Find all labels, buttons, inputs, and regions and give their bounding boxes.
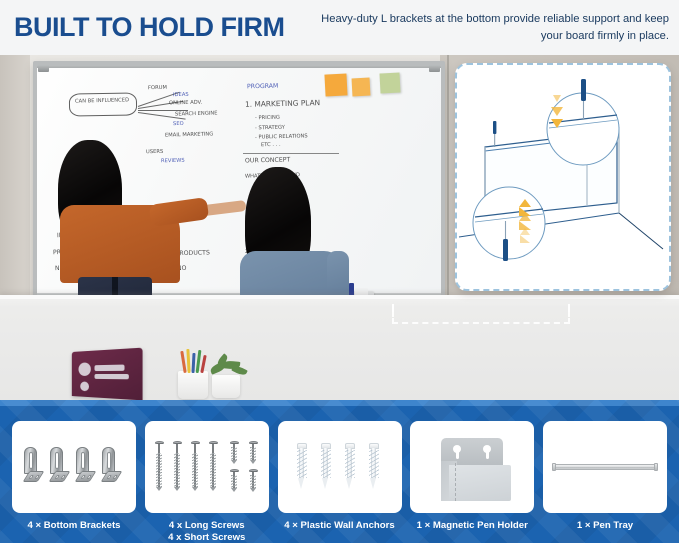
pen-holder-fold-line	[455, 463, 456, 501]
accessory-plastic-wall-anchors[interactable]: 4 × Plastic Wall Anchors	[278, 421, 402, 532]
whiteboard-branch-label-7: REVIEWS	[161, 158, 185, 165]
accessory-card-list: 4 × Bottom Brackets	[0, 406, 679, 543]
accessory-band: 4 × Bottom Brackets	[0, 400, 679, 543]
l-bracket-icon	[102, 447, 119, 483]
accessory-label-long-screws: 4 x Long Screws	[168, 520, 245, 532]
bottom-bracket-callout	[392, 304, 570, 324]
accessory-screws[interactable]: 4 x Long Screws 4 x Short Screws	[145, 421, 269, 543]
whiteboard-branch-label-1: IDEAS	[173, 92, 189, 98]
laptop-sticker	[94, 365, 124, 372]
whiteboard-branch-label-6: USERS	[146, 149, 163, 155]
laptop	[72, 348, 143, 400]
pen-tray-end-cap-right	[654, 463, 658, 471]
whiteboard-underline	[243, 153, 339, 154]
accessory-image-bottom-brackets	[12, 421, 136, 513]
sticky-note	[324, 73, 347, 96]
accessory-pen-tray[interactable]: 1 × Pen Tray	[543, 421, 667, 532]
accessory-image-pen-holder	[410, 421, 534, 513]
whiteboard-bullet-0: - PRICING	[255, 115, 280, 122]
laptop-sticker	[94, 374, 128, 379]
whiteboard-bullet-1: - STRATEGY	[255, 125, 285, 132]
whiteboard-branch-label-2: ONLINE ADV.	[169, 100, 202, 107]
wall-anchor-icon	[344, 443, 356, 491]
accessory-label-short-screws: 4 x Short Screws	[168, 532, 245, 543]
header-banner: BUILT TO HOLD FIRM Heavy-duty L brackets…	[0, 0, 679, 55]
laptop-logo-sticker	[79, 362, 91, 376]
pen-tray-end-cap-left	[552, 463, 556, 471]
whiteboard-corner-bracket-left	[38, 64, 49, 72]
accessory-image-screws	[145, 421, 269, 513]
accessory-magnetic-pen-holder[interactable]: 1 × Magnetic Pen Holder	[410, 421, 534, 532]
keyhole-slot-icon	[483, 445, 491, 459]
whiteboard-bullet-3: ETC . . .	[261, 142, 281, 148]
l-bracket-icon	[24, 447, 41, 483]
whiteboard-branch-label-4: SEO	[173, 121, 184, 127]
product-lifestyle-photo: CAN BE INFLUENCED FORUM IDEAS ONLINE ADV…	[0, 55, 679, 400]
page-title: BUILT TO HOLD FIRM	[14, 14, 284, 41]
whiteboard-corner-bracket-right	[429, 64, 440, 72]
wall-anchor-icon	[320, 443, 332, 491]
header-subtitle: Heavy-duty L brackets at the bottom prov…	[319, 11, 669, 43]
pen-holder-front-panel	[449, 465, 511, 501]
accessory-label-screws: 4 x Long Screws 4 x Short Screws	[168, 520, 245, 543]
whiteboard-section: OUR CONCEPT	[245, 156, 290, 164]
wall-mount-installation-diagram	[455, 63, 671, 291]
accessory-label-bottom-brackets: 4 × Bottom Brackets	[27, 520, 120, 532]
bottom-bracket-callout-tick-left	[392, 304, 394, 312]
keyhole-slot-icon	[453, 445, 461, 459]
bottom-bracket-callout-tick-right	[568, 304, 570, 312]
l-bracket-icon	[50, 447, 67, 483]
laptop-logo-sticker	[80, 382, 89, 392]
table-front-edge	[0, 295, 679, 299]
whiteboard-branch-label-5: EMAIL MARKETING	[165, 131, 213, 138]
whiteboard-top-frame	[33, 61, 445, 68]
accessory-label-pen-holder: 1 × Magnetic Pen Holder	[417, 520, 528, 532]
wall-anchor-icon	[368, 443, 380, 491]
l-bracket-icon	[76, 447, 93, 483]
accessory-image-pen-tray	[543, 421, 667, 513]
plant-pot	[212, 375, 240, 398]
accessory-label-pen-tray: 1 × Pen Tray	[577, 520, 633, 532]
sticky-note	[379, 72, 400, 93]
sticky-note	[352, 78, 371, 97]
accessory-bottom-brackets[interactable]: 4 × Bottom Brackets	[12, 421, 136, 532]
whiteboard-title: 1. MARKETING PLAN	[245, 98, 320, 109]
installation-diagram-svg	[457, 65, 669, 289]
whiteboard-branch-label-3: SEARCH ENGINE	[175, 110, 218, 117]
whiteboard-heading: PROGRAM	[247, 83, 278, 91]
wall-anchor-icon	[296, 443, 308, 491]
pen-tray-icon	[554, 464, 656, 470]
whiteboard-branch-label-0: FORUM	[148, 85, 167, 91]
pen-cup	[178, 371, 208, 399]
accessory-image-wall-anchors	[278, 421, 402, 513]
whiteboard-bullet-2: - PUBLIC RELATIONS	[255, 133, 308, 140]
accessory-label-wall-anchors: 4 × Plastic Wall Anchors	[284, 520, 394, 532]
